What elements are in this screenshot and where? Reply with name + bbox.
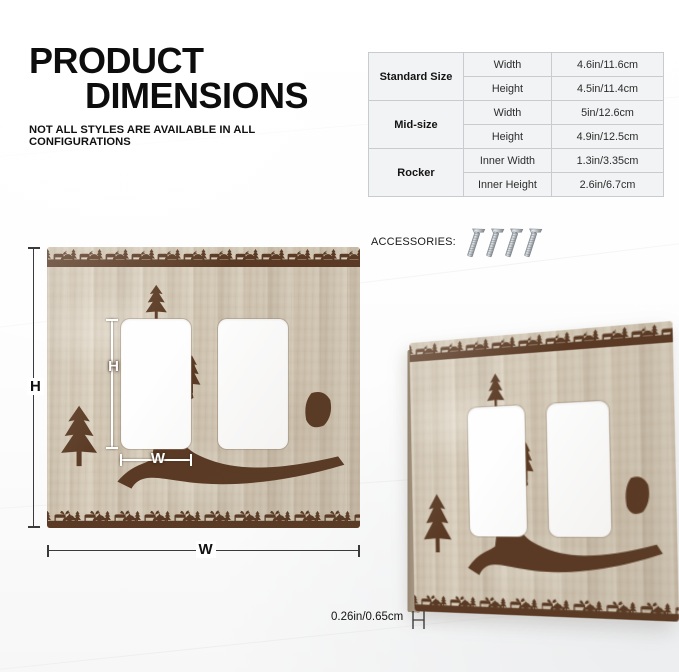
inner-width-cap-right <box>190 454 192 466</box>
inner-width-cap-left <box>120 454 122 466</box>
accessories-row: ACCESSORIES: <box>371 225 538 259</box>
accessories-label: ACCESSORIES: <box>371 236 456 248</box>
thickness-label: 0.26in/0.65cm <box>331 611 403 623</box>
inner-height-cap-bottom <box>106 447 118 449</box>
table-cell-attribute: Inner Height <box>463 173 551 197</box>
table-cell-value: 4.6in/11.6cm <box>551 53 663 77</box>
outer-width-cap-left <box>47 545 49 557</box>
inner-height-line <box>111 319 113 450</box>
table-cell-category: Rocker <box>369 149 464 197</box>
table-cell-category: Standard Size <box>369 53 464 101</box>
table-cell-attribute: Height <box>463 77 551 101</box>
outer-height-label: H <box>27 378 44 395</box>
wall-plate-front <box>47 247 360 528</box>
table-cell-attribute: Height <box>463 125 551 149</box>
outer-height-cap-bottom <box>28 526 40 528</box>
dimensions-table: Standard SizeWidth4.6in/11.6cmHeight4.5i… <box>368 52 664 197</box>
outer-height-cap-top <box>28 247 40 249</box>
outer-width-label: W <box>196 541 216 558</box>
thickness-caliper-icon <box>411 609 427 631</box>
page-title-line2: DIMENSIONS <box>29 78 359 115</box>
table-cell-attribute: Width <box>463 101 551 125</box>
table-row: Mid-sizeWidth5in/12.6cm <box>369 101 664 125</box>
table-cell-value: 5in/12.6cm <box>551 101 663 125</box>
page-subtitle: NOT ALL STYLES ARE AVAILABLE IN ALL CONF… <box>29 124 359 148</box>
headline-block: PRODUCT DIMENSIONS NOT ALL STYLES ARE AV… <box>29 43 359 148</box>
spec-table-wrapper: Standard SizeWidth4.6in/11.6cmHeight4.5i… <box>368 52 664 197</box>
table-cell-category: Mid-size <box>369 101 464 149</box>
table-cell-value: 2.6in/6.7cm <box>551 173 663 197</box>
inner-height-label: H <box>105 358 122 375</box>
screw-icon-group <box>468 225 538 259</box>
table-row: RockerInner Width1.3in/3.35cm <box>369 149 664 173</box>
wall-plate-angled <box>409 321 679 622</box>
table-cell-attribute: Width <box>463 53 551 77</box>
table-cell-value: 4.9in/12.5cm <box>551 125 663 149</box>
outer-width-cap-right <box>358 545 360 557</box>
infographic-canvas: PRODUCT DIMENSIONS NOT ALL STYLES ARE AV… <box>0 0 679 672</box>
table-cell-value: 4.5in/11.4cm <box>551 77 663 101</box>
table-cell-attribute: Inner Width <box>463 149 551 173</box>
wall-plate-angled-wrapper <box>409 321 679 622</box>
table-row: Standard SizeWidth4.6in/11.6cm <box>369 53 664 77</box>
plate-shading <box>47 247 360 528</box>
inner-width-label: W <box>148 450 168 467</box>
table-cell-value: 1.3in/3.35cm <box>551 149 663 173</box>
plate-shading <box>409 321 679 622</box>
inner-height-cap-top <box>106 319 118 321</box>
